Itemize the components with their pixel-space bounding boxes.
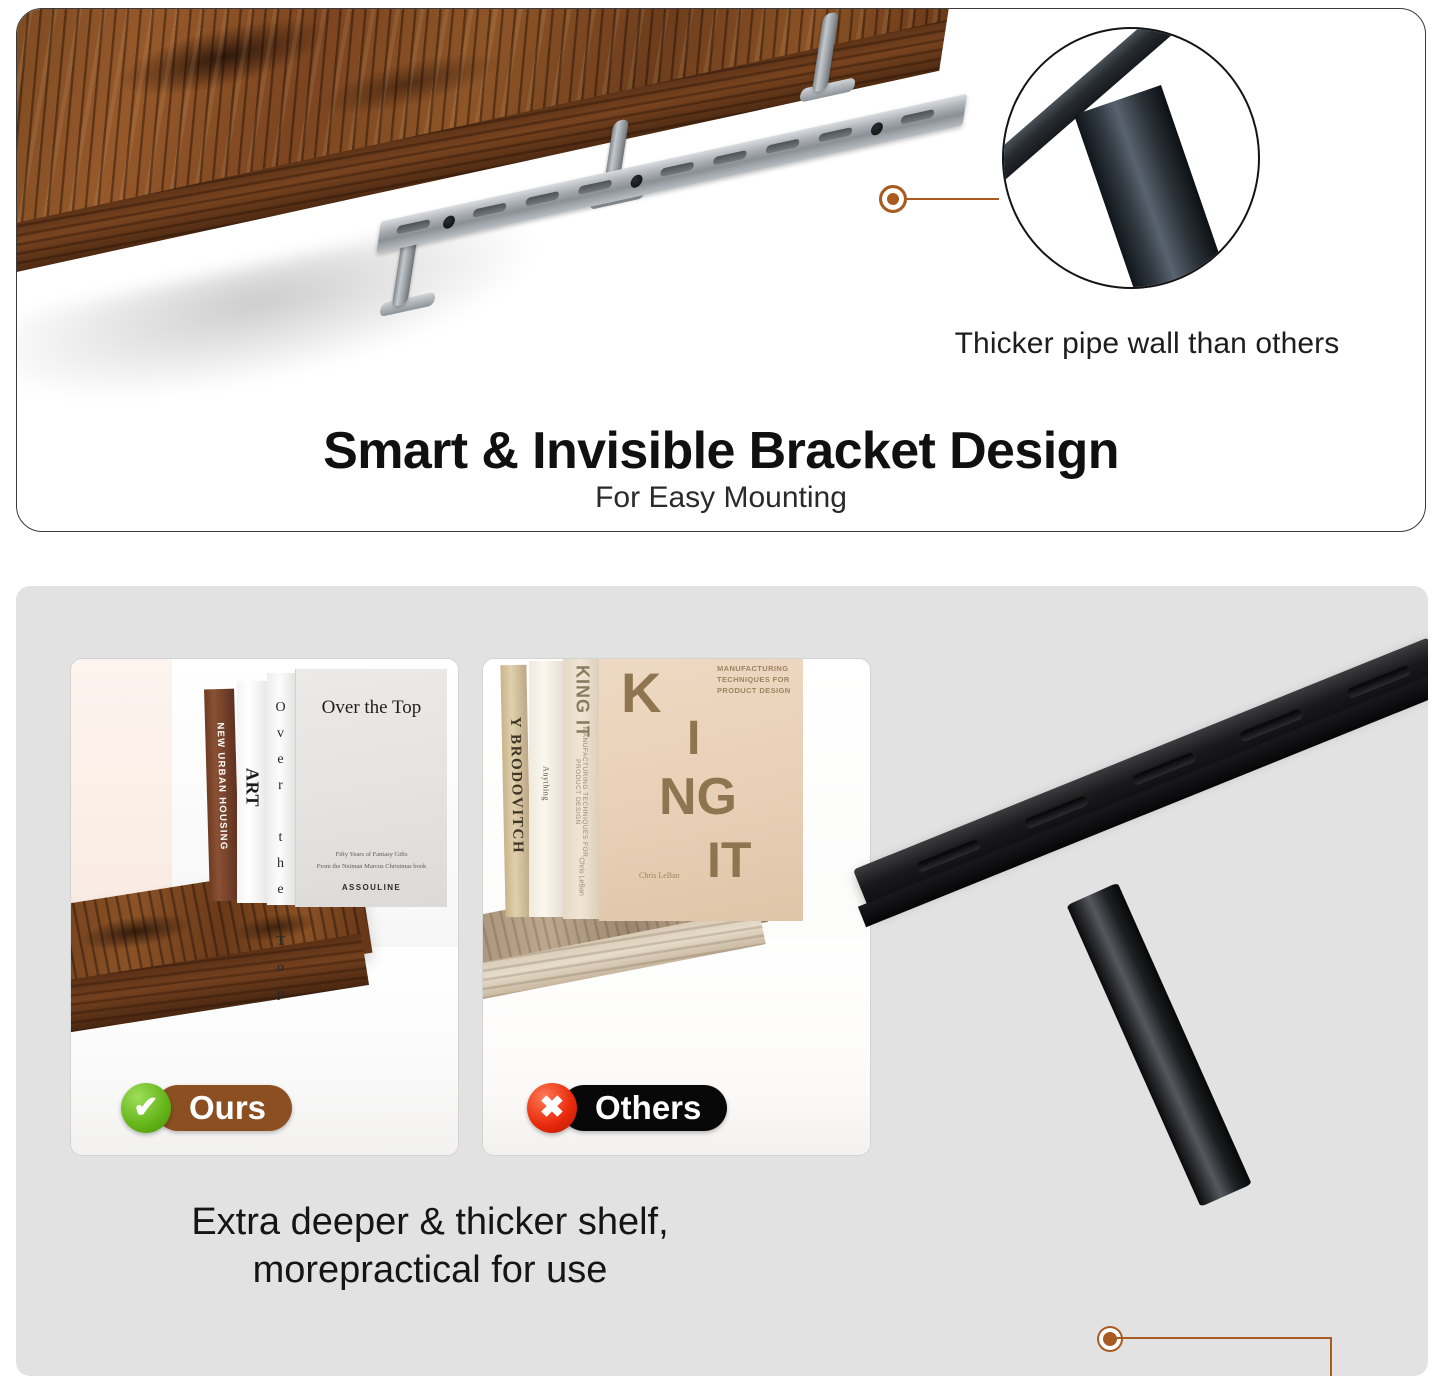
comparison-panel: NEW URBAN HOUSING ART OvertheTop Over th… bbox=[16, 586, 1428, 1376]
military-grade-lead-line-h bbox=[1110, 1337, 1332, 1339]
military-grade-marker-dot bbox=[1099, 1328, 1121, 1350]
rail-hole bbox=[630, 174, 644, 189]
military-grade-lead-line-v bbox=[1330, 1337, 1332, 1376]
rail-slot bbox=[396, 219, 431, 235]
rail-slot bbox=[818, 127, 853, 143]
black-bracket-illustration: Made of Military Grade lron with rubber … bbox=[16, 586, 1428, 1376]
rail-hole bbox=[442, 214, 456, 229]
rail-slot bbox=[525, 191, 560, 207]
rail-slot bbox=[472, 202, 507, 218]
page-subtitle: For Easy Mounting bbox=[17, 481, 1425, 515]
rail-slot bbox=[660, 161, 695, 177]
rail-hole bbox=[870, 121, 884, 136]
rail-slot bbox=[765, 138, 800, 154]
bracket-support-pipe bbox=[1066, 883, 1251, 1207]
rail-slot bbox=[900, 109, 935, 125]
page-title: Smart & Invisible Bracket Design bbox=[17, 421, 1425, 481]
magnified-pipe-wall bbox=[1074, 85, 1246, 289]
bracket-design-panel: Thicker pipe wall than others Smart & In… bbox=[16, 8, 1426, 532]
x-circle-icon: ✖ bbox=[527, 1083, 577, 1133]
pipe-wall-magnifier bbox=[1002, 27, 1260, 289]
rail-slot bbox=[578, 179, 613, 195]
check-circle-icon: ✔ bbox=[121, 1083, 171, 1133]
shelf-illustration bbox=[16, 9, 1013, 409]
bracket-plate-bottom-face bbox=[858, 675, 1428, 928]
magnifier-marker-dot bbox=[879, 185, 907, 213]
rail-slot bbox=[713, 150, 748, 166]
bracket-rail bbox=[376, 94, 967, 254]
thicker-pipe-callout-label: Thicker pipe wall than others bbox=[897, 327, 1397, 361]
magnifier-connector-line bbox=[903, 198, 999, 200]
